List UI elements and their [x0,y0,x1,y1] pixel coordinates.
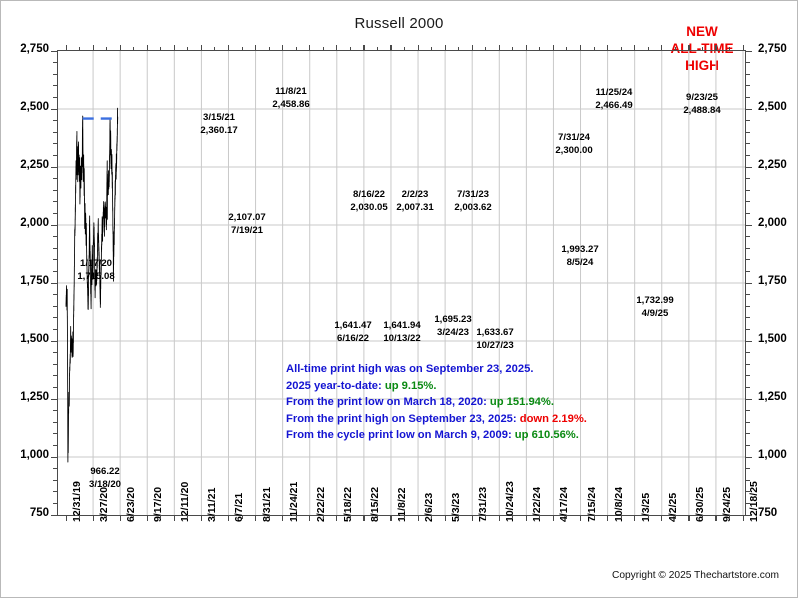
x-axis-major-tick-top [66,45,67,51]
x-axis-minor-tick [160,47,161,51]
summary-line-2: 2025 year-to-date: up 9.15%. [286,378,587,395]
y-axis-major-tick [745,167,752,168]
x-axis-major-tick [418,515,419,521]
annotation-date: 7/19/21 [207,225,287,238]
annotation-date: 1/17/20 [56,258,136,271]
annotation-value: 1,732.99 [615,295,695,308]
x-axis-major-tick [634,515,635,521]
y-axis-major-tick [745,225,752,226]
x-axis-major-tick [499,515,500,521]
y-axis-tick-label-left: 1,750 [1,275,49,287]
x-axis-tick-label: 2/6/23 [423,493,435,522]
y-axis-minor-tick [745,491,750,492]
x-axis-major-tick [445,515,446,521]
x-axis-minor-tick [133,47,134,51]
y-axis-minor-tick [745,62,750,63]
summary-line-4-value: down 2.19%. [520,413,587,425]
y-axis-minor-tick [53,294,58,295]
x-axis-minor-tick [187,515,188,519]
y-axis-minor-tick [53,306,58,307]
y-axis-major-tick [51,515,58,516]
summary-line-3-label: From the print low on March 18, 2020: [286,396,487,408]
y-axis-minor-tick [53,375,58,376]
annotation-value: 2,003.62 [433,202,513,215]
x-axis-major-tick-top [93,45,94,51]
annotation-value: 1,695.23 [413,314,493,327]
x-axis-major-tick-top [309,45,310,51]
annotation-date: 7/31/24 [534,132,614,145]
x-axis-minor-tick [242,515,243,519]
y-axis-minor-tick [53,271,58,272]
point-annotation: 1,633.6710/27/23 [455,327,535,352]
x-axis-major-tick [147,515,148,521]
plot-area [57,50,746,516]
y-axis-tick-label-left: 2,250 [1,159,49,171]
x-axis-tick-label: 7/31/23 [477,487,489,522]
y-axis-tick-label-right: 2,750 [758,43,787,55]
y-axis-tick-label-right: 2,250 [758,159,787,171]
y-axis-major-tick [51,167,58,168]
y-axis-minor-tick [745,236,750,237]
x-axis-major-tick-top [390,45,391,51]
y-axis-minor-tick [53,120,58,121]
y-axis-tick-label-left: 750 [1,507,49,519]
x-axis-minor-tick [512,515,513,519]
x-axis-minor-tick [485,515,486,519]
y-axis-minor-tick [745,480,750,481]
y-axis-major-tick [745,51,752,52]
y-axis-tick-label-right: 2,000 [758,217,787,229]
x-axis-major-tick [309,515,310,521]
x-axis-major-tick [66,515,67,521]
y-axis-minor-tick [745,410,750,411]
x-axis-major-tick-top [120,45,121,51]
y-axis-tick-label-left: 1,000 [1,449,49,461]
x-axis-minor-tick [79,515,80,519]
y-axis-major-tick [51,457,58,458]
y-axis-minor-tick [53,387,58,388]
y-axis-minor-tick [53,503,58,504]
y-axis-minor-tick [745,248,750,249]
y-axis-minor-tick [53,132,58,133]
summary-notes: All-time print high was on September 23,… [286,361,587,444]
y-axis-minor-tick [53,352,58,353]
x-axis-major-tick-top [688,45,689,51]
chart-frame: Russell 2000 NEW ALL-TIME HIGH 7501,0001… [0,0,798,598]
y-axis-minor-tick [53,329,58,330]
x-axis-minor-tick [323,47,324,51]
y-axis-minor-tick [745,259,750,260]
y-axis-tick-label-right: 1,750 [758,275,787,287]
y-axis-minor-tick [53,236,58,237]
y-axis-minor-tick [53,433,58,434]
x-axis-tick-label: 5/18/22 [342,487,354,522]
x-axis-minor-tick [458,515,459,519]
summary-line-4-label: From the print high on September 23, 202… [286,413,517,425]
summary-line-3-value: up 151.94%. [490,396,554,408]
point-annotation: 1/17/201,715.08 [56,258,136,283]
y-axis-minor-tick [745,433,750,434]
y-axis-minor-tick [745,132,750,133]
y-axis-tick-label-right: 1,500 [758,333,787,345]
x-axis-minor-tick [404,515,405,519]
x-axis-minor-tick [485,47,486,51]
x-axis-tick-label: 1/22/24 [531,487,543,522]
x-axis-major-tick-top [147,45,148,51]
x-axis-minor-tick [594,47,595,51]
x-axis-minor-tick [350,515,351,519]
summary-line-5-label: From the cycle print low on March 9, 200… [286,429,512,441]
x-axis-major-tick-top [282,45,283,51]
y-axis-minor-tick [53,480,58,481]
x-axis-major-tick [255,515,256,521]
x-axis-tick-label: 4/2/25 [667,493,679,522]
x-axis-tick-label: 3/11/21 [206,488,218,522]
y-axis-minor-tick [53,422,58,423]
annotation-value: 2,466.49 [574,100,654,113]
y-axis-minor-tick [745,271,750,272]
copyright-notice: Copyright © 2025 Thechartstore.com [612,570,779,581]
y-axis-minor-tick [745,364,750,365]
x-axis-minor-tick [729,47,730,51]
x-axis-tick-label: 4/17/24 [558,487,570,522]
point-annotation: 7/31/232,003.62 [433,189,513,214]
x-axis-minor-tick [323,515,324,519]
x-axis-major-tick-top [526,45,527,51]
y-axis-tick-label-right: 2,500 [758,101,787,113]
y-axis-major-tick [51,399,58,400]
x-axis-tick-label: 11/24/21 [288,482,300,522]
x-axis-major-tick-top [580,45,581,51]
x-axis-major-tick-top [363,45,364,51]
y-axis-minor-tick [745,329,750,330]
y-axis-minor-tick [53,410,58,411]
annotation-date: 3/15/21 [179,112,259,125]
x-axis-minor-tick [702,47,703,51]
point-annotation: 1,993.278/5/24 [540,244,620,269]
x-axis-major-tick [553,515,554,521]
y-axis-minor-tick [745,74,750,75]
y-axis-tick-label-right: 750 [758,507,777,519]
x-axis-major-tick-top [743,45,744,51]
x-axis-minor-tick [512,47,513,51]
y-axis-tick-label-left: 1,500 [1,333,49,345]
x-axis-minor-tick [458,47,459,51]
y-axis-tick-label-left: 2,750 [1,43,49,55]
annotation-date: 8/5/24 [540,257,620,270]
x-axis-minor-tick [187,47,188,51]
y-axis-minor-tick [53,190,58,191]
x-axis-major-tick [526,515,527,521]
y-axis-minor-tick [53,74,58,75]
y-axis-major-tick [745,399,752,400]
annotation-value: 1,633.67 [455,327,535,340]
annotation-date: 9/23/25 [662,92,742,105]
y-axis-minor-tick [53,468,58,469]
y-axis-minor-tick [745,352,750,353]
x-axis-minor-tick [539,47,540,51]
x-axis-major-tick [472,515,473,521]
y-axis-minor-tick [53,85,58,86]
y-axis-minor-tick [53,364,58,365]
x-axis-tick-label: 7/15/24 [586,487,598,522]
x-axis-major-tick-top [445,45,446,51]
x-axis-minor-tick [242,47,243,51]
x-axis-minor-tick [431,515,432,519]
x-axis-minor-tick [214,47,215,51]
y-axis-minor-tick [745,190,750,191]
x-axis-major-tick [174,515,175,521]
x-axis-major-tick-top [472,45,473,51]
x-axis-major-tick [282,515,283,521]
annotation-value: 2,360.17 [179,125,259,138]
x-axis-major-tick-top [336,45,337,51]
price-series-svg [58,51,745,515]
annotation-value: 1,715.08 [56,271,136,284]
y-axis-minor-tick [53,62,58,63]
x-axis-minor-tick [729,515,730,519]
y-axis-minor-tick [745,143,750,144]
x-axis-major-tick-top [174,45,175,51]
y-axis-minor-tick [53,445,58,446]
y-axis-minor-tick [745,306,750,307]
x-axis-minor-tick [594,515,595,519]
x-axis-tick-label: 3/27/20 [98,487,110,522]
point-annotation: 11/25/242,466.49 [574,87,654,112]
y-axis-tick-label-right: 1,000 [758,449,787,461]
point-annotation: 3/15/212,360.17 [179,112,259,137]
y-axis-minor-tick [53,201,58,202]
x-axis-tick-label: 10/8/24 [613,487,625,522]
y-axis-major-tick [51,109,58,110]
y-axis-major-tick [51,341,58,342]
x-axis-major-tick-top [661,45,662,51]
x-axis-minor-tick [431,47,432,51]
x-axis-minor-tick [160,515,161,519]
x-axis-minor-tick [404,47,405,51]
y-axis-minor-tick [745,120,750,121]
x-axis-minor-tick [377,515,378,519]
y-axis-major-tick [51,51,58,52]
y-axis-minor-tick [53,491,58,492]
summary-line-2-value: up 9.15%. [385,380,437,392]
y-axis-minor-tick [745,503,750,504]
x-axis-major-tick-top [201,45,202,51]
y-axis-tick-label-right: 1,250 [758,391,787,403]
gridlines [58,51,745,515]
x-axis-minor-tick [269,515,270,519]
x-axis-tick-label: 5/3/23 [450,493,462,522]
x-axis-major-tick [607,515,608,521]
y-axis-major-tick [745,515,752,516]
x-axis-minor-tick [350,47,351,51]
x-axis-major-tick [120,515,121,521]
x-axis-major-tick [688,515,689,521]
summary-line-1: All-time print high was on September 23,… [286,361,587,378]
annotation-date: 11/25/24 [574,87,654,100]
summary-line-5-value: up 610.56%. [515,429,579,441]
callout-line-1: NEW [650,23,754,40]
x-axis-tick-label: 1/3/25 [640,493,652,522]
x-axis-minor-tick [648,515,649,519]
y-axis-major-tick [745,109,752,110]
y-axis-minor-tick [745,178,750,179]
annotation-value: 1,993.27 [540,244,620,257]
x-axis-major-tick-top [499,45,500,51]
y-axis-minor-tick [745,375,750,376]
x-axis-tick-label: 10/24/23 [504,481,516,522]
x-axis-minor-tick [539,515,540,519]
y-axis-minor-tick [745,422,750,423]
x-axis-major-tick [93,515,94,521]
annotation-value: 2,458.86 [251,99,331,112]
y-axis-minor-tick [745,97,750,98]
x-axis-minor-tick [133,515,134,519]
x-axis-tick-label: 6/7/21 [233,493,245,522]
point-annotation: 2,107.077/19/21 [207,212,287,237]
y-axis-major-tick [745,341,752,342]
x-axis-minor-tick [648,47,649,51]
y-axis-minor-tick [53,248,58,249]
annotation-date: 11/8/21 [251,86,331,99]
y-axis-minor-tick [745,201,750,202]
y-axis-minor-tick [745,387,750,388]
x-axis-major-tick-top [607,45,608,51]
point-annotation: 1,732.994/9/25 [615,295,695,320]
y-axis-minor-tick [53,317,58,318]
x-axis-minor-tick [675,515,676,519]
annotation-date: 3/18/20 [65,479,145,492]
x-axis-minor-tick [566,47,567,51]
annotation-date: 10/27/23 [455,340,535,353]
y-axis-minor-tick [53,259,58,260]
annotation-value: 2,488.84 [662,105,742,118]
y-axis-minor-tick [745,445,750,446]
summary-line-4: From the print high on September 23, 202… [286,411,587,428]
annotation-value: 2,107.07 [207,212,287,225]
y-axis-minor-tick [53,155,58,156]
x-axis-minor-tick [566,515,567,519]
y-axis-minor-tick [745,213,750,214]
x-axis-minor-tick [621,515,622,519]
x-axis-minor-tick [296,515,297,519]
x-axis-major-tick [201,515,202,521]
x-axis-major-tick [661,515,662,521]
x-axis-major-tick [363,515,364,521]
x-axis-major-tick-top [418,45,419,51]
y-axis-tick-label-left: 2,000 [1,217,49,229]
y-axis-minor-tick [53,97,58,98]
x-axis-minor-tick [296,47,297,51]
summary-line-5: From the cycle print low on March 9, 200… [286,427,587,444]
y-axis-minor-tick [745,85,750,86]
x-axis-tick-label: 11/8/22 [396,488,408,522]
y-axis-minor-tick [745,294,750,295]
x-axis-tick-label: 2/22/22 [315,487,327,522]
y-axis-major-tick [51,225,58,226]
summary-line-2-label: 2025 year-to-date: [286,380,382,392]
y-axis-major-tick [51,283,58,284]
annotation-date: 7/31/23 [433,189,513,202]
x-axis-major-tick [228,515,229,521]
x-axis-tick-label: 9/17/20 [152,487,164,522]
y-axis-major-tick [745,283,752,284]
point-annotation: 7/31/242,300.00 [534,132,614,157]
point-annotation: 966.223/18/20 [65,466,145,491]
x-axis-major-tick-top [255,45,256,51]
x-axis-major-tick-top [634,45,635,51]
x-axis-minor-tick [214,515,215,519]
x-axis-major-tick [390,515,391,521]
y-axis-minor-tick [745,317,750,318]
x-axis-tick-label: 12/18/25 [748,481,760,522]
x-axis-minor-tick [377,47,378,51]
x-axis-major-tick [715,515,716,521]
x-axis-tick-label: 6/23/20 [125,487,137,522]
annotation-value: 966.22 [65,466,145,479]
x-axis-minor-tick [79,47,80,51]
x-axis-minor-tick [269,47,270,51]
y-axis-minor-tick [745,468,750,469]
annotation-date: 4/9/25 [615,308,695,321]
x-axis-minor-tick [106,515,107,519]
x-axis-tick-label: 12/11/20 [179,482,191,522]
x-axis-tick-label: 8/15/22 [369,487,381,522]
x-axis-minor-tick [675,47,676,51]
y-axis-minor-tick [745,155,750,156]
y-axis-minor-tick [53,178,58,179]
y-axis-tick-label-left: 1,250 [1,391,49,403]
point-annotation: 11/8/212,458.86 [251,86,331,111]
x-axis-tick-label: 9/24/25 [721,487,733,522]
y-axis-minor-tick [53,143,58,144]
x-axis-minor-tick [106,47,107,51]
x-axis-major-tick-top [553,45,554,51]
summary-line-3: From the print low on March 18, 2020: up… [286,394,587,411]
y-axis-major-tick [745,457,752,458]
price-line [66,108,118,462]
x-axis-tick-label: 6/30/25 [694,487,706,522]
x-axis-major-tick [580,515,581,521]
y-axis-tick-label-left: 2,500 [1,101,49,113]
x-axis-major-tick-top [715,45,716,51]
x-axis-major-tick [336,515,337,521]
x-axis-tick-label: 8/31/21 [261,487,273,522]
x-axis-minor-tick [621,47,622,51]
y-axis-minor-tick [53,213,58,214]
x-axis-minor-tick [702,515,703,519]
x-axis-major-tick-top [228,45,229,51]
point-annotation: 9/23/252,488.84 [662,92,742,117]
x-axis-major-tick [743,515,744,521]
annotation-value: 2,300.00 [534,145,614,158]
